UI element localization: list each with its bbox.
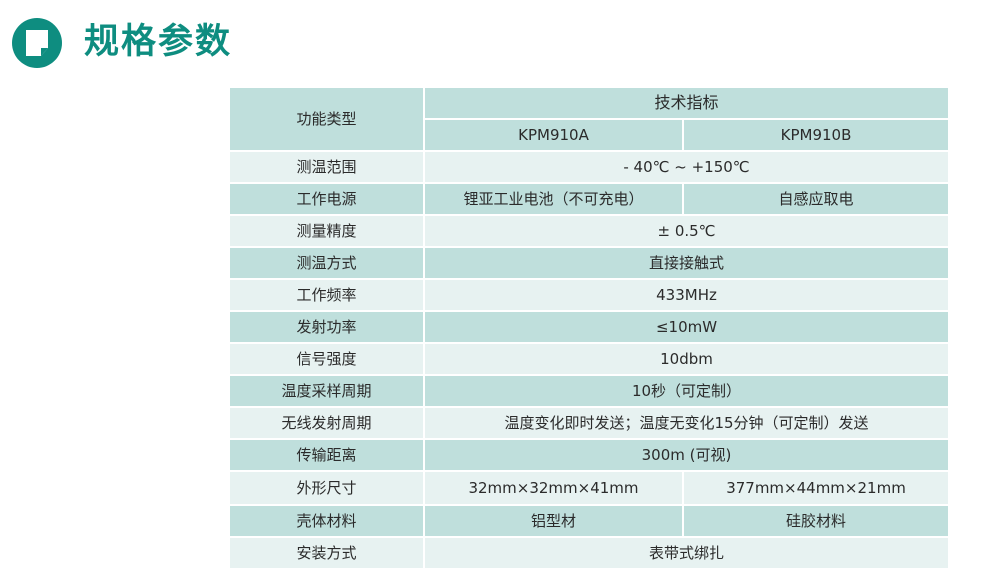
page-header: 规格参数 <box>0 0 985 85</box>
table-row: 工作电源 锂亚工业电池（不可充电） 自感应取电 <box>230 184 948 216</box>
row-value: 300m (可视) <box>425 440 948 472</box>
row-label: 测温方式 <box>230 248 425 280</box>
table-row: 外形尺寸 32mm×32mm×41mm 377mm×44mm×21mm <box>230 472 948 506</box>
row-label: 测量精度 <box>230 216 425 248</box>
row-value: - 40℃ ~ +150℃ <box>425 152 948 184</box>
row-value: 10dbm <box>425 344 948 376</box>
row-label: 温度采样周期 <box>230 376 425 408</box>
row-value-b: 硅胶材料 <box>684 506 948 538</box>
row-label: 信号强度 <box>230 344 425 376</box>
row-value-b: 自感应取电 <box>684 184 948 216</box>
table-row: 发射功率 ≤10mW <box>230 312 948 344</box>
header-model-b: KPM910B <box>684 120 948 152</box>
row-label: 传输距离 <box>230 440 425 472</box>
header-label-column: 功能类型 <box>230 88 425 152</box>
row-value: 10秒（可定制） <box>425 376 948 408</box>
table-row: 无线发射周期 温度变化即时发送；温度无变化15分钟（可定制）发送 <box>230 408 948 440</box>
row-value: 表带式绑扎 <box>425 538 948 568</box>
row-value: 温度变化即时发送；温度无变化15分钟（可定制）发送 <box>425 408 948 440</box>
spec-table-body: 功能类型 技术指标 KPM910A KPM910B 测温范围 - 40℃ ~ +… <box>230 88 948 568</box>
row-label: 外形尺寸 <box>230 472 425 506</box>
table-row: 测温方式 直接接触式 <box>230 248 948 280</box>
table-row: 测温范围 - 40℃ ~ +150℃ <box>230 152 948 184</box>
table-row: 温度采样周期 10秒（可定制） <box>230 376 948 408</box>
table-row: 测量精度 ± 0.5℃ <box>230 216 948 248</box>
row-value-a: 锂亚工业电池（不可充电） <box>425 184 684 216</box>
row-value-b: 377mm×44mm×21mm <box>684 472 948 506</box>
row-label: 壳体材料 <box>230 506 425 538</box>
row-value: 433MHz <box>425 280 948 312</box>
row-value-a: 32mm×32mm×41mm <box>425 472 684 506</box>
row-value: ≤10mW <box>425 312 948 344</box>
spec-table-wrapper: 功能类型 技术指标 KPM910A KPM910B 测温范围 - 40℃ ~ +… <box>230 88 948 568</box>
table-row: 传输距离 300m (可视) <box>230 440 948 472</box>
row-label: 无线发射周期 <box>230 408 425 440</box>
page-title: 规格参数 <box>84 25 232 60</box>
header-model-a: KPM910A <box>425 120 684 152</box>
header-group-title: 技术指标 <box>425 88 948 120</box>
row-label: 工作频率 <box>230 280 425 312</box>
row-value: ± 0.5℃ <box>425 216 948 248</box>
table-row: 壳体材料 铝型材 硅胶材料 <box>230 506 948 538</box>
table-row: 安装方式 表带式绑扎 <box>230 538 948 568</box>
row-label: 工作电源 <box>230 184 425 216</box>
document-page-icon <box>12 18 62 68</box>
row-label: 安装方式 <box>230 538 425 568</box>
specification-table: 功能类型 技术指标 KPM910A KPM910B 测温范围 - 40℃ ~ +… <box>230 88 948 568</box>
table-header-row-group: 功能类型 技术指标 <box>230 88 948 120</box>
row-label: 发射功率 <box>230 312 425 344</box>
row-value: 直接接触式 <box>425 248 948 280</box>
table-row: 工作频率 433MHz <box>230 280 948 312</box>
row-label: 测温范围 <box>230 152 425 184</box>
table-row: 信号强度 10dbm <box>230 344 948 376</box>
row-value-a: 铝型材 <box>425 506 684 538</box>
